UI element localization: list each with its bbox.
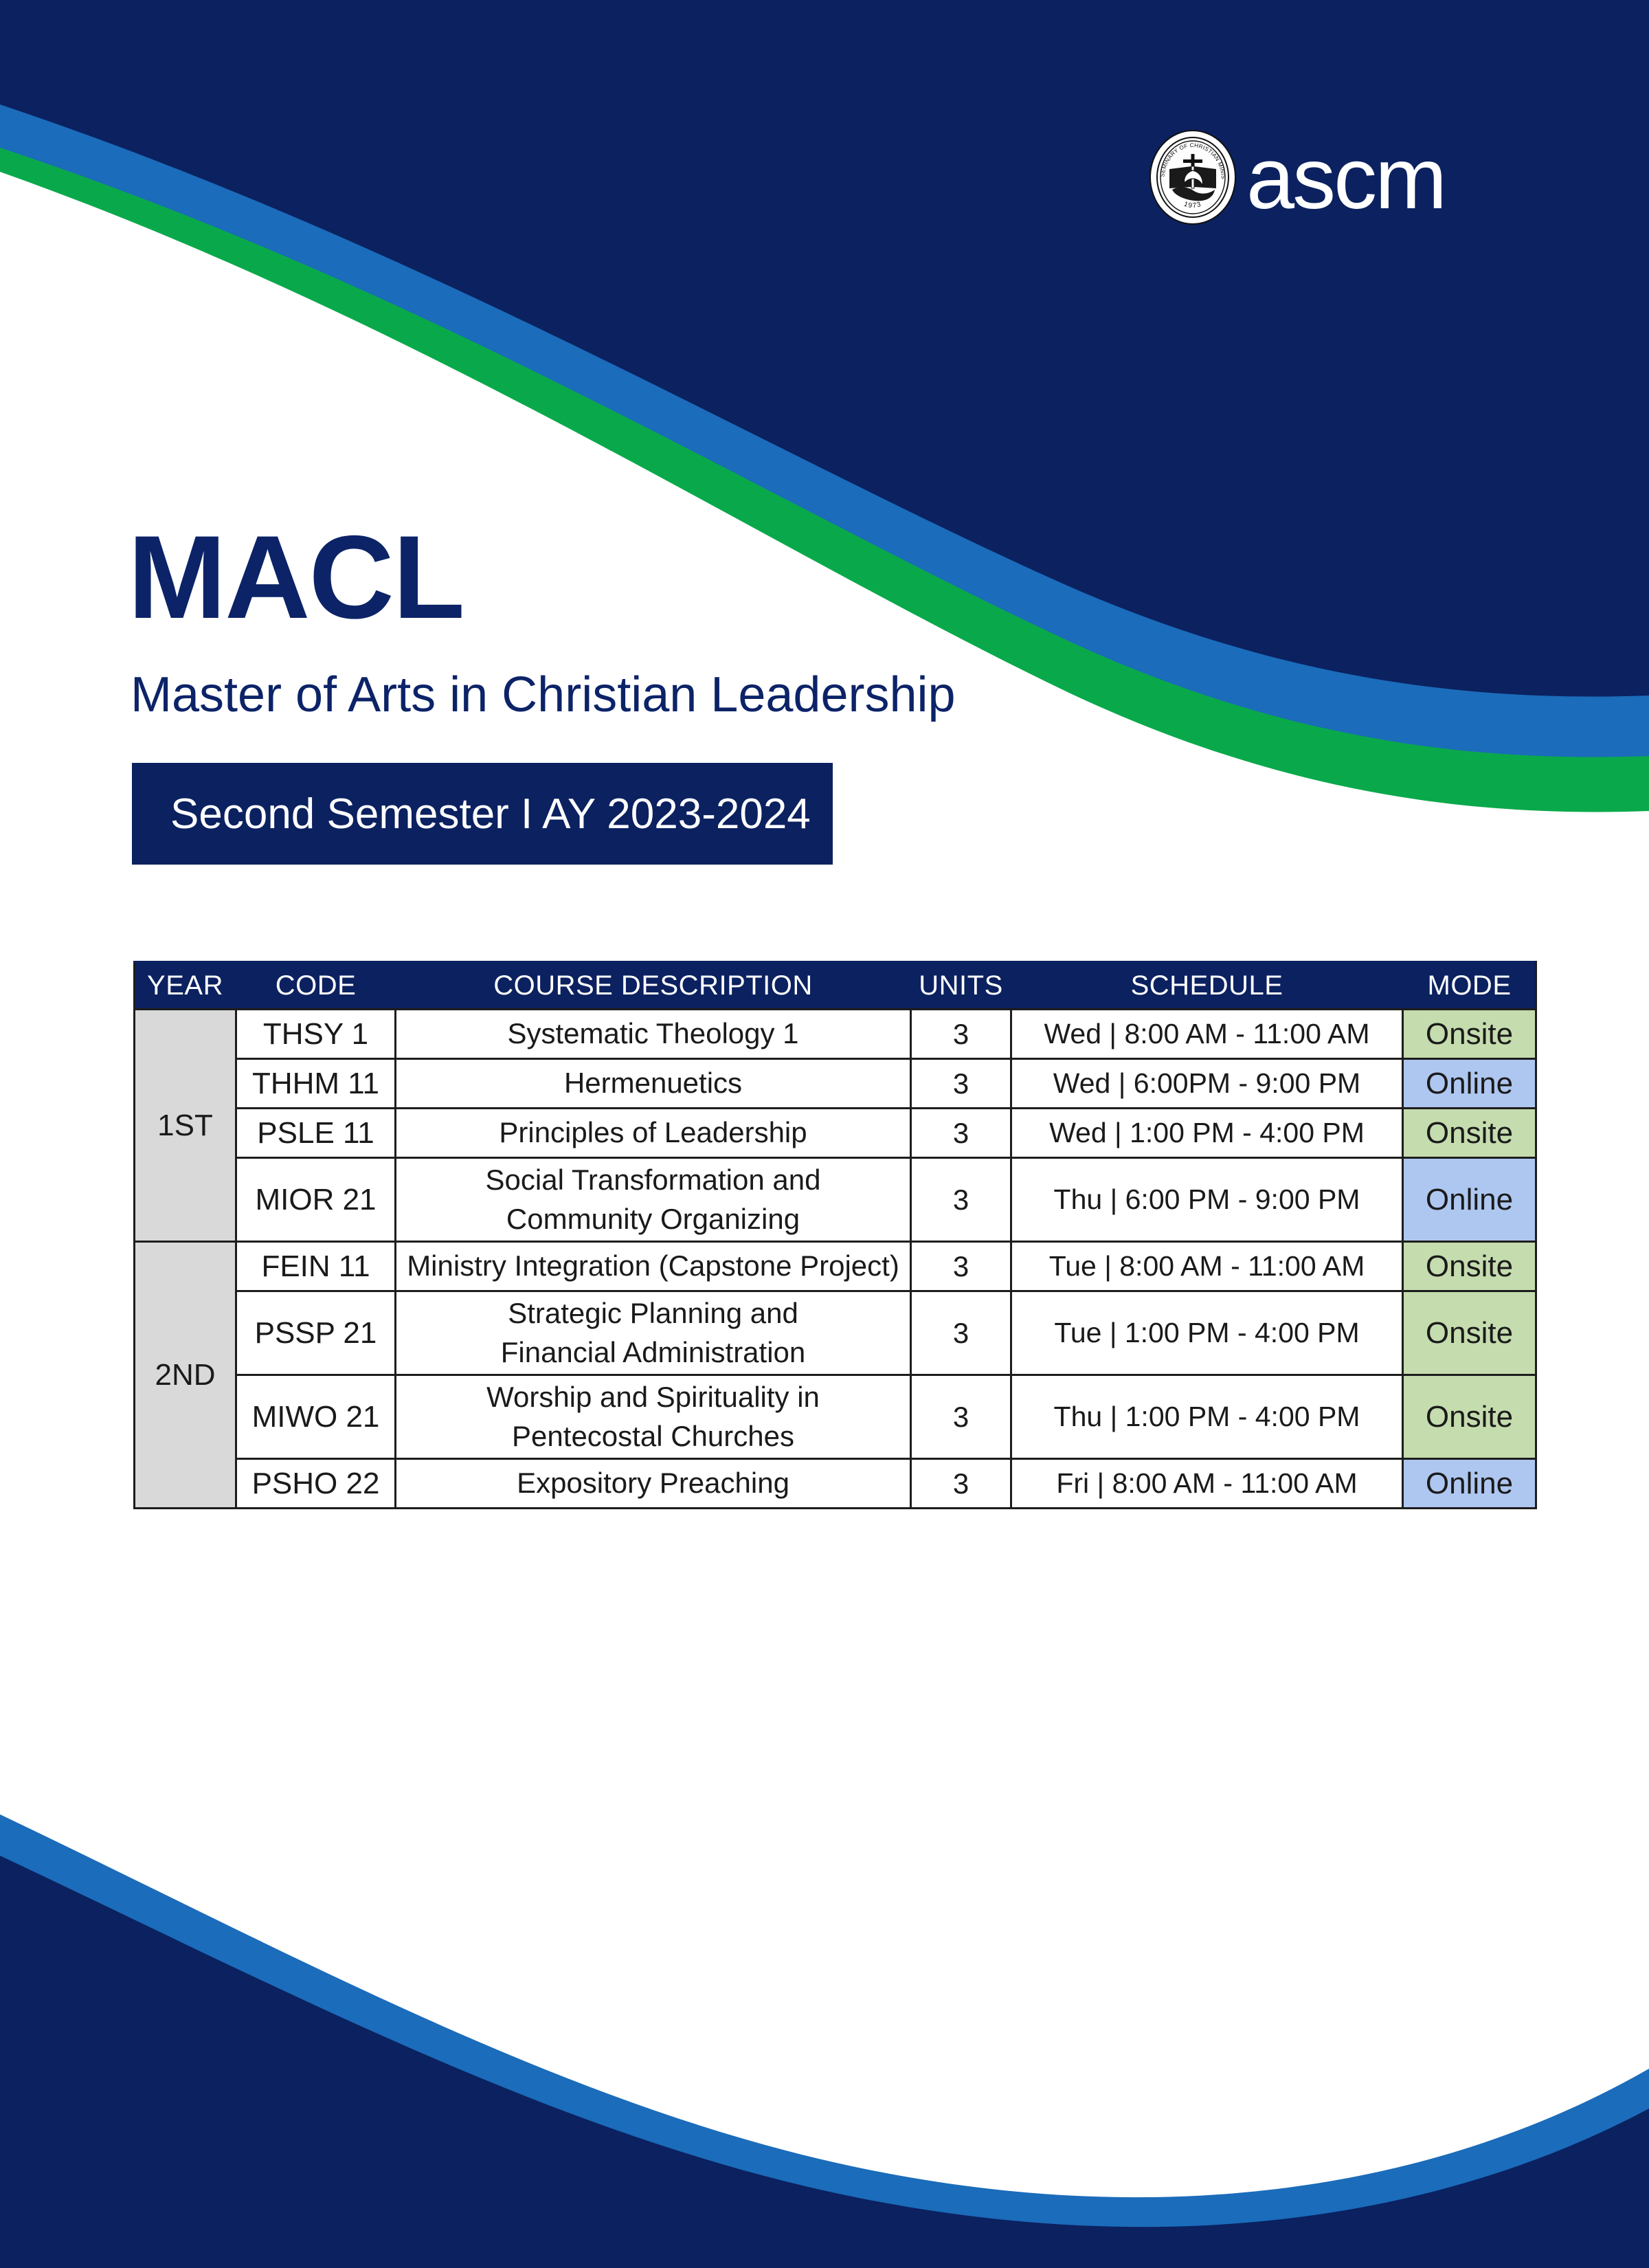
term-badge-label: Second Semester I AY 2023-2024 [132, 790, 811, 838]
table-row: PSLE 11Principles of Leadership3Wed | 1:… [135, 1109, 1536, 1158]
program-code-title: MACL [128, 518, 464, 636]
table-row: PSSP 21Strategic Planning andFinancial A… [135, 1291, 1536, 1375]
bottom-green-wave [0, 1828, 1649, 2268]
description-line: Systematic Theology 1 [401, 1014, 906, 1054]
table-row: PSHO 22Expository Preaching3Fri | 8:00 A… [135, 1459, 1536, 1509]
cell-schedule: Fri | 8:00 AM - 11:00 AM [1011, 1459, 1403, 1509]
course-schedule-table: YEAR CODE COURSE DESCRIPTION UNITS SCHED… [133, 961, 1537, 1509]
cell-units: 3 [911, 1242, 1011, 1291]
cell-year: 2ND [135, 1242, 236, 1509]
cell-code: MIWO 21 [236, 1375, 396, 1459]
cell-units: 3 [911, 1158, 1011, 1242]
cell-mode: Onsite [1403, 1109, 1536, 1158]
ascm-logo: ASIAN SEMINARY OF CHRISTIAN MINISTRIES 1… [1149, 129, 1445, 225]
ascm-seal-icon: ASIAN SEMINARY OF CHRISTIAN MINISTRIES 1… [1149, 129, 1237, 225]
description-line: Financial Administration [401, 1333, 906, 1372]
cell-year: 1ST [135, 1010, 236, 1242]
cell-code: PSLE 11 [236, 1109, 396, 1158]
cell-schedule: Thu | 6:00 PM - 9:00 PM [1011, 1158, 1403, 1242]
table-row: MIOR 21Social Transformation andCommunit… [135, 1158, 1536, 1242]
cell-schedule: Wed | 1:00 PM - 4:00 PM [1011, 1109, 1403, 1158]
cell-description: Hermenuetics [396, 1059, 911, 1109]
table-body: 1STTHSY 1Systematic Theology 13Wed | 8:0… [135, 1010, 1536, 1509]
cell-description: Strategic Planning andFinancial Administ… [396, 1291, 911, 1375]
description-line: Worship and Spirituality in [401, 1378, 906, 1417]
cell-mode: Onsite [1403, 1291, 1536, 1375]
column-header-code: CODE [236, 962, 396, 1010]
cell-description: Systematic Theology 1 [396, 1010, 911, 1059]
cell-units: 3 [911, 1375, 1011, 1459]
course-schedule-table-wrapper: YEAR CODE COURSE DESCRIPTION UNITS SCHED… [133, 961, 1535, 1509]
cell-code: PSHO 22 [236, 1459, 396, 1509]
cell-schedule: Thu | 1:00 PM - 4:00 PM [1011, 1375, 1403, 1459]
column-header-schedule: SCHEDULE [1011, 962, 1403, 1010]
cell-code: THHM 11 [236, 1059, 396, 1109]
cell-units: 3 [911, 1291, 1011, 1375]
table-row: THHM 11Hermenuetics3Wed | 6:00PM - 9:00 … [135, 1059, 1536, 1109]
description-line: Expository Preaching [401, 1464, 906, 1503]
program-name-subtitle: Master of Arts in Christian Leadership [131, 670, 956, 720]
cell-units: 3 [911, 1059, 1011, 1109]
cell-units: 3 [911, 1459, 1011, 1509]
description-line: Hermenuetics [401, 1064, 906, 1103]
bottom-navy-wave [0, 1856, 1649, 2268]
cell-code: MIOR 21 [236, 1158, 396, 1242]
cell-schedule: Wed | 8:00 AM - 11:00 AM [1011, 1010, 1403, 1059]
table-row: 1STTHSY 1Systematic Theology 13Wed | 8:0… [135, 1010, 1536, 1059]
description-line: Principles of Leadership [401, 1113, 906, 1153]
cell-units: 3 [911, 1010, 1011, 1059]
description-line: Community Organizing [401, 1200, 906, 1239]
cell-mode: Online [1403, 1158, 1536, 1242]
cell-mode: Onsite [1403, 1010, 1536, 1059]
column-header-description: COURSE DESCRIPTION [396, 962, 911, 1010]
cell-description: Ministry Integration (Capstone Project) [396, 1242, 911, 1291]
cell-mode: Online [1403, 1059, 1536, 1109]
table-row: MIWO 21Worship and Spirituality inPentec… [135, 1375, 1536, 1459]
column-header-year: YEAR [135, 962, 236, 1010]
cell-schedule: Wed | 6:00PM - 9:00 PM [1011, 1059, 1403, 1109]
description-line: Strategic Planning and [401, 1294, 906, 1333]
table-header: YEAR CODE COURSE DESCRIPTION UNITS SCHED… [135, 962, 1536, 1010]
table-row: 2NDFEIN 11Ministry Integration (Capstone… [135, 1242, 1536, 1291]
cell-schedule: Tue | 8:00 AM - 11:00 AM [1011, 1242, 1403, 1291]
table-header-row: YEAR CODE COURSE DESCRIPTION UNITS SCHED… [135, 962, 1536, 1010]
column-header-mode: MODE [1403, 962, 1536, 1010]
cell-mode: Onsite [1403, 1375, 1536, 1459]
cell-description: Social Transformation andCommunity Organ… [396, 1158, 911, 1242]
cell-description: Expository Preaching [396, 1459, 911, 1509]
cell-units: 3 [911, 1109, 1011, 1158]
cell-schedule: Tue | 1:00 PM - 4:00 PM [1011, 1291, 1403, 1375]
bottom-blue-wave [0, 1814, 1649, 2268]
ascm-wordmark: ascm [1246, 135, 1445, 222]
cell-mode: Onsite [1403, 1242, 1536, 1291]
top-blue-wave [0, 0, 1649, 757]
cell-code: FEIN 11 [236, 1242, 396, 1291]
cell-description: Worship and Spirituality inPentecostal C… [396, 1375, 911, 1459]
cell-code: THSY 1 [236, 1010, 396, 1059]
description-line: Pentecostal Churches [401, 1417, 906, 1456]
column-header-units: UNITS [911, 962, 1011, 1010]
cell-code: PSSP 21 [236, 1291, 396, 1375]
term-badge: Second Semester I AY 2023-2024 [132, 763, 833, 865]
description-line: Social Transformation and [401, 1161, 906, 1200]
description-line: Ministry Integration (Capstone Project) [401, 1247, 906, 1286]
cell-mode: Online [1403, 1459, 1536, 1509]
cell-description: Principles of Leadership [396, 1109, 911, 1158]
